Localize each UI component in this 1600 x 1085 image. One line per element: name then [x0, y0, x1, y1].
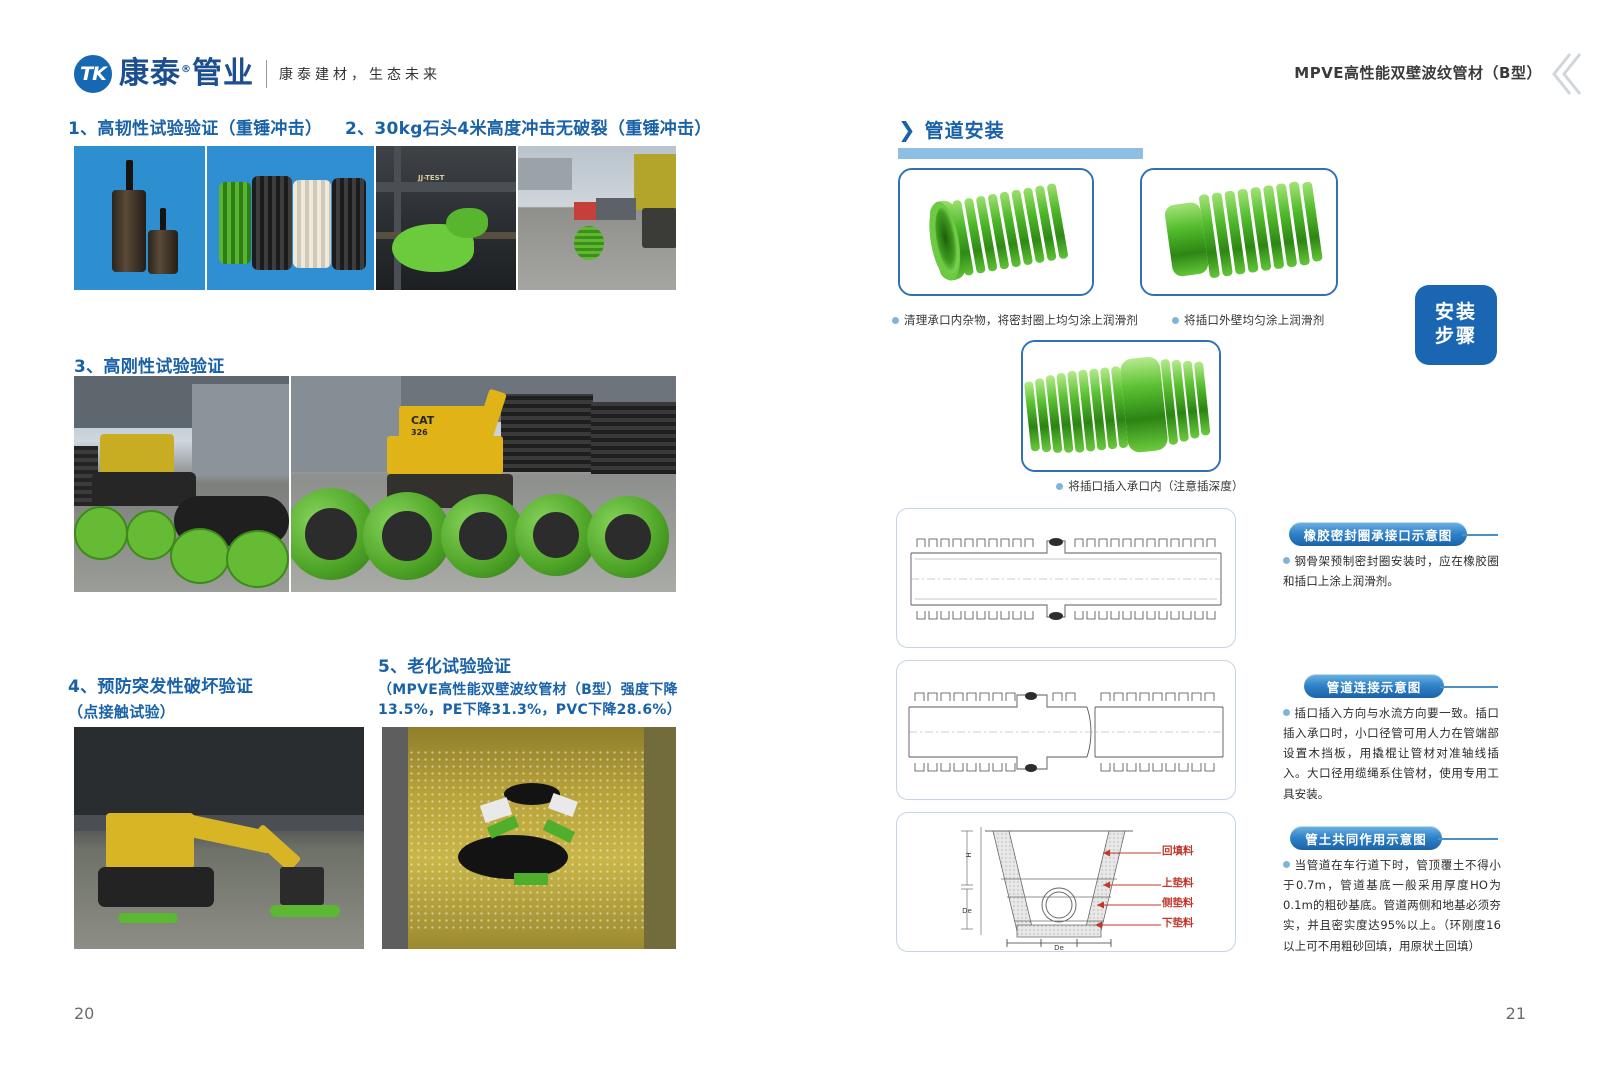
badge-line-2: 步骤	[1435, 325, 1477, 349]
section-title-3: 3、高刚性试验验证	[74, 352, 225, 377]
diagram-1-drawing	[897, 509, 1235, 647]
step-1-photo	[900, 170, 1092, 294]
diagram-2-drawing	[897, 661, 1235, 799]
photo-cat-excavator-pipes: CAT 326	[291, 376, 676, 592]
section-5-body: （MPVE高性能双壁波纹管材（B型）强度下降13.5%，PE下降31.3%，PV…	[378, 680, 678, 721]
section-title-underline	[898, 148, 1143, 159]
installation-title-text: 管道安装	[925, 116, 1005, 143]
trench-label-lower-bedding: 下垫料	[1162, 915, 1194, 930]
svg-text:H: H	[965, 852, 973, 857]
section-4-main: 4、预防突发性破坏验证	[68, 677, 253, 697]
diagram-2-pill-line	[1440, 686, 1498, 688]
step-2-caption-text: 将插口外壁均匀涂上润滑剂	[1184, 312, 1324, 329]
step-3-photo	[1023, 342, 1219, 470]
installation-steps-badge: 安装 步骤	[1415, 285, 1497, 365]
lab-machine-tag: JJ-TEST	[418, 174, 444, 182]
company-logo: TK 康泰®管业 康泰建材，生态未来	[74, 55, 441, 93]
logo-slogan: 康泰建材，生态未来	[279, 64, 441, 84]
diagram-1-pill-label: 橡胶密封圈承接口示意图	[1289, 522, 1467, 546]
step-2-caption: 将插口外壁均匀涂上润滑剂	[1172, 312, 1402, 329]
step-card-3	[1021, 340, 1221, 472]
step-1-caption: 清理承口内杂物，将密封圈上均匀涂上润滑剂	[892, 312, 1152, 329]
badge-line-1: 安装	[1435, 301, 1477, 325]
svg-text:De: De	[962, 907, 972, 915]
trench-label-side-bedding: 侧垫料	[1162, 895, 1194, 910]
diagram-1-note: 钢骨架预制密封圈安装时，应在橡胶圈和插口上涂上润滑剂。	[1283, 551, 1499, 591]
diagram-card-1	[896, 508, 1236, 648]
diagram-2-pill-label: 管道连接示意图	[1304, 674, 1444, 698]
diagram-1-pill-line	[1462, 534, 1498, 536]
photo-strip-impact-tests: JJ-TEST	[74, 146, 676, 290]
diagram-1-note-text: 钢骨架预制密封圈安装时，应在橡胶圈和插口上涂上润滑剂。	[1283, 554, 1499, 588]
page-number-left: 20	[74, 1004, 94, 1023]
diagram-3-pill-label: 管土共同作用示意图	[1290, 826, 1442, 850]
section-title-4: 4、预防突发性破坏验证 （点接触试验）	[68, 675, 253, 723]
cat-model-label: 326	[411, 428, 428, 437]
trench-label-upper-bedding: 上垫料	[1162, 875, 1194, 890]
logo-mark-icon: TK	[74, 55, 112, 93]
photo-drop-hammer	[74, 146, 205, 290]
diagram-3-pill-line	[1438, 838, 1498, 840]
bullet-dot-icon	[1283, 557, 1290, 564]
right-page-header-title: MPVE高性能双壁波纹管材（B型）	[1294, 62, 1542, 83]
cat-brand-label: CAT	[411, 414, 434, 427]
logo-name-part1: 康泰	[119, 56, 181, 91]
logo-company-name: 康泰®管业	[119, 59, 254, 89]
step-1-caption-text: 清理承口内杂物，将密封圈上均匀涂上润滑剂	[904, 312, 1138, 329]
photo-test-lab: JJ-TEST	[376, 146, 516, 290]
step-card-1	[898, 168, 1094, 296]
step-3-caption-text: 将插口插入承口内（注意插深度）	[1068, 478, 1244, 495]
photo-pipe-samples	[207, 146, 374, 290]
left-page: TK 康泰®管业 康泰建材，生态未来 1、高韧性试验验证（重锤冲击） 2、30k…	[0, 0, 800, 1085]
section-4-sub: （点接触试验）	[68, 701, 253, 724]
step-2-photo	[1142, 170, 1336, 294]
section-5-main: 5、老化试验验证	[378, 657, 511, 677]
section-title-2: 2、30kg石头4米高度冲击无破裂（重锤冲击）	[345, 114, 712, 139]
page-number-right: 21	[1506, 1004, 1526, 1023]
diagram-3-note: 当管道在车行道下时，管顶覆土不得小于0.7m，管道基底一般采用厚度HO为0.1m…	[1283, 855, 1501, 956]
step-3-caption: 将插口插入承口内（注意插深度）	[1020, 478, 1280, 495]
chevron-decoration-icon	[1548, 52, 1582, 96]
bullet-dot-icon	[1283, 709, 1290, 716]
step-card-2	[1140, 168, 1338, 296]
photo-outdoor-yard	[518, 146, 676, 290]
trench-label-backfill: 回填料	[1162, 843, 1194, 858]
registered-icon: ®	[181, 64, 192, 75]
section-title-1: 1、高韧性试验验证（重锤冲击）	[68, 114, 322, 139]
photo-excavator-on-pipes	[74, 376, 289, 592]
brochure-spread: TK 康泰®管业 康泰建材，生态未来 1、高韧性试验验证（重锤冲击） 2、30k…	[0, 0, 1600, 1085]
logo-name-part2: 管业	[192, 56, 254, 91]
section-title-5: 5、老化试验验证 （MPVE高性能双壁波纹管材（B型）强度下降13.5%，PE下…	[378, 655, 678, 720]
diagram-2-note: 插口插入方向与水流方向要一致。插口插入承口时，小口径管可用人力在管端部设置木挡板…	[1283, 703, 1499, 804]
diagram-3-note-text: 当管道在车行道下时，管顶覆土不得小于0.7m，管道基底一般采用厚度HO为0.1m…	[1283, 858, 1501, 953]
installation-section-title: ❯ 管道安装	[898, 116, 1005, 143]
bullet-dot-icon	[892, 317, 899, 324]
bullet-dot-icon	[1056, 483, 1063, 490]
diagram-2-note-text: 插口插入方向与水流方向要一致。插口插入承口时，小口径管可用人力在管端部设置木挡板…	[1283, 706, 1499, 801]
svg-text:De: De	[1054, 944, 1064, 951]
photo-aging-oven	[382, 727, 676, 949]
bullet-dot-icon	[1172, 317, 1179, 324]
diagram-card-2	[896, 660, 1236, 800]
logo-divider	[266, 60, 267, 88]
photo-point-contact-test	[74, 727, 364, 949]
chevron-right-icon: ❯	[898, 118, 917, 142]
photo-strip-stiffness-tests: CAT 326	[74, 376, 676, 592]
bullet-dot-icon	[1283, 861, 1290, 868]
